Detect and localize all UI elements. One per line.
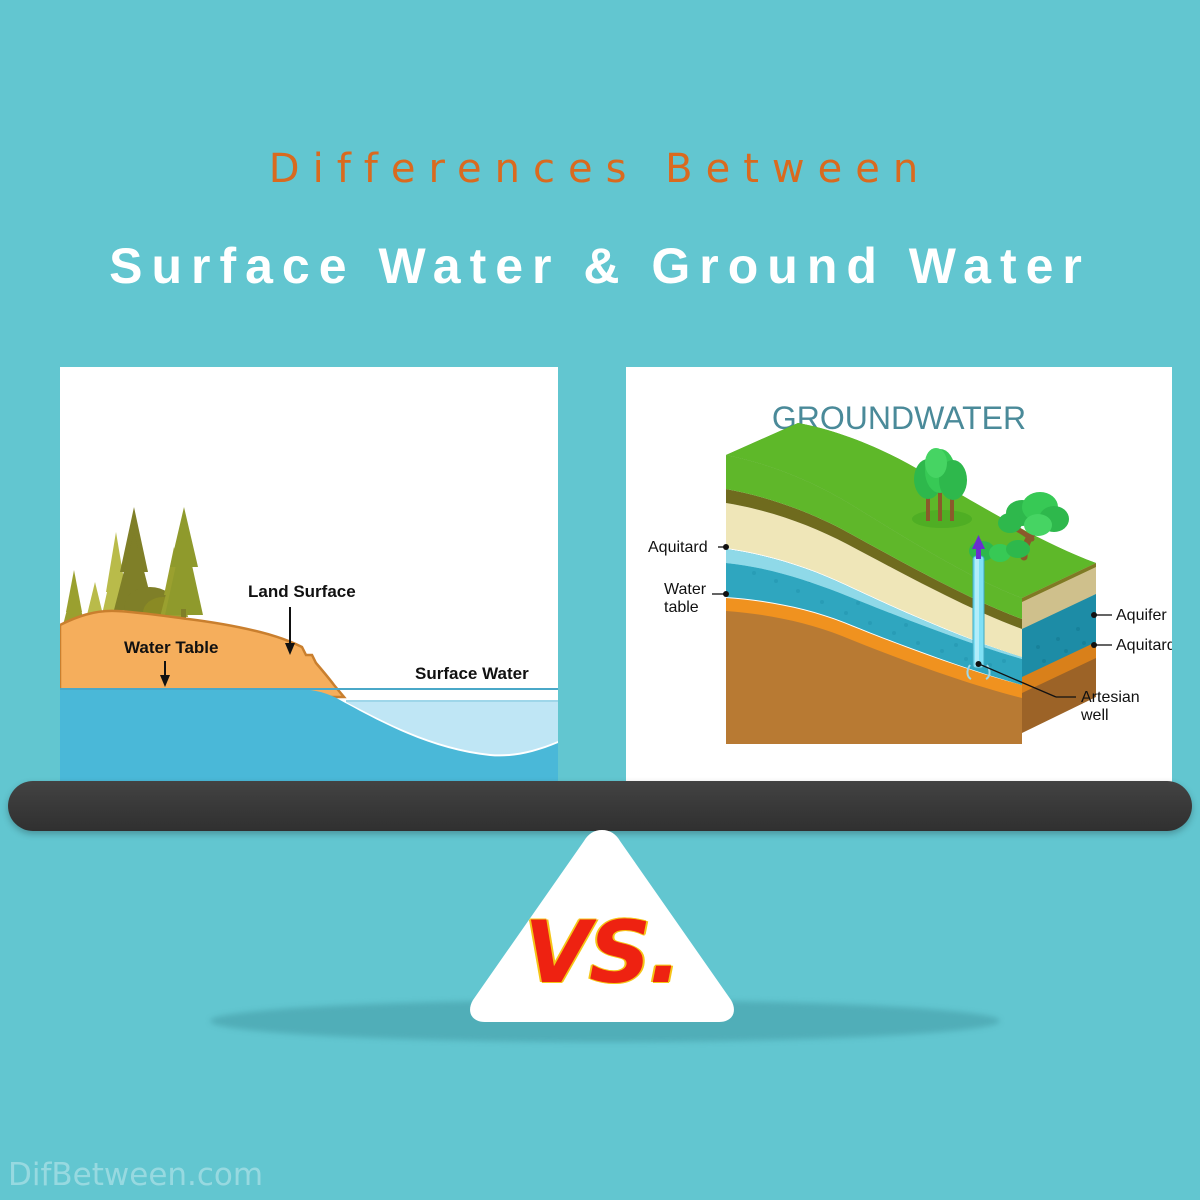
surface-water-illustration: Land Surface Water Table Surface Water [60,367,558,785]
vs-badge: VS. [463,824,741,1026]
left-panel-surface-water: Land Surface Water Table Surface Water [60,367,558,785]
label-artesian-line2: well [1080,707,1109,724]
groundwater-illustration: GROUNDWATER [626,367,1172,785]
right-panel-groundwater: GROUNDWATER [626,367,1172,785]
vs-label: VS. [463,910,741,996]
label-water-table-line1: Water [664,581,707,598]
label-water-table-line2: table [664,599,699,616]
aquitard-left-dot [723,544,729,550]
label-surface-water: Surface Water [415,664,529,683]
label-aquifer-right: Aquifer [1116,607,1167,624]
page-subtitle: Surface Water & Ground Water [0,237,1200,295]
label-aquitard-right: Aquitard [1116,637,1172,654]
label-aquitard-left: Aquitard [648,539,708,556]
page-title: Differences Between [0,146,1200,192]
water-table-left-dot [723,591,729,597]
poster-canvas: Differences Between Surface Water & Grou… [0,0,1200,1200]
label-land-surface: Land Surface [248,582,356,601]
label-water-table: Water Table [124,638,218,657]
site-watermark: DifBetween.com [8,1157,263,1193]
label-artesian-line1: Artesian [1081,689,1140,706]
